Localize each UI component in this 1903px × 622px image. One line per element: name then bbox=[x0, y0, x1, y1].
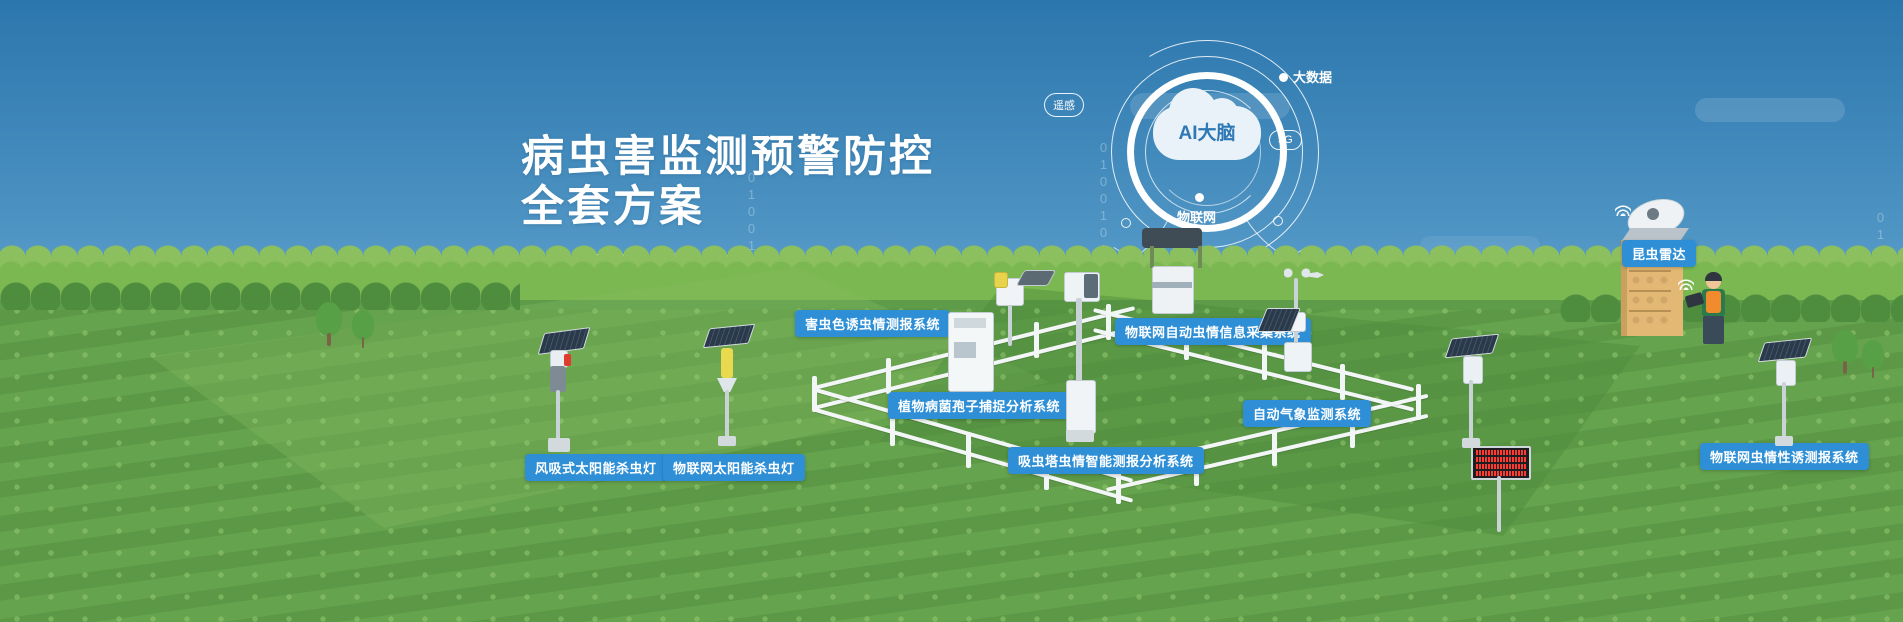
ai-node-iot[interactable]: 物联网 bbox=[1177, 207, 1216, 226]
farmer-legs bbox=[1703, 316, 1724, 344]
color-trap-solar bbox=[1016, 270, 1057, 286]
device-iot-pheromone-visual[interactable] bbox=[1445, 336, 1499, 456]
ai-node-remote-sensing[interactable]: 遥感 bbox=[1044, 93, 1084, 117]
farmer-wifi-icon bbox=[1678, 276, 1694, 290]
label-suction-tower[interactable]: 吸虫塔虫情智能测报分析系统 bbox=[1008, 447, 1204, 474]
pheromone-right-base bbox=[1775, 436, 1793, 446]
iot-lamp-solar-panel bbox=[703, 324, 756, 348]
wind-lamp-redmark bbox=[564, 354, 571, 366]
radar-dish-receiver bbox=[1647, 208, 1659, 220]
ai-node-dot-bigdata bbox=[1279, 73, 1288, 82]
device-suction-tower[interactable] bbox=[1058, 272, 1104, 452]
farmer-figure bbox=[1694, 274, 1734, 346]
device-wind-solar-lamp[interactable] bbox=[534, 330, 590, 450]
led-board-pole bbox=[1497, 476, 1501, 532]
suction-tower-cabinet bbox=[1066, 380, 1096, 434]
iot-lamp-base bbox=[718, 436, 736, 446]
cloud-decor-2 bbox=[1695, 98, 1845, 122]
suction-tower-base bbox=[1066, 430, 1094, 442]
fence-post-9 bbox=[1416, 384, 1421, 420]
page-title-line2: 全套方案 bbox=[521, 182, 935, 232]
label-spore-capture[interactable]: 植物病菌孢子捕捉分析系统 bbox=[888, 392, 1070, 419]
iot-lamp-pole bbox=[725, 390, 729, 440]
infographic-banner: 0100101101110 01001011 0101011101010010 … bbox=[0, 0, 1903, 622]
farmer-hair bbox=[1705, 272, 1722, 281]
tree-2 bbox=[352, 310, 374, 348]
ai-brain-label: AI大脑 bbox=[1153, 118, 1261, 145]
fence-post-15 bbox=[1272, 430, 1277, 466]
weather-cabinet bbox=[1284, 342, 1312, 372]
wind-lamp-pole bbox=[556, 390, 560, 444]
ai-node-endpoint-left bbox=[1121, 218, 1131, 228]
led-line-3 bbox=[1476, 464, 1526, 469]
bush-row-left bbox=[0, 280, 520, 310]
pheromone-solar-panel bbox=[1445, 334, 1500, 359]
fence-post-1 bbox=[812, 376, 817, 412]
label-radar-tower[interactable]: 昆虫雷达 bbox=[1622, 240, 1696, 267]
anemometer-cups bbox=[1284, 268, 1310, 278]
suction-tower-dark bbox=[1084, 274, 1098, 298]
label-iot-solar-lamp[interactable]: 物联网太阳能杀虫灯 bbox=[663, 454, 805, 481]
iot-lamp-tube bbox=[721, 348, 733, 378]
field-fence bbox=[806, 256, 1426, 466]
fence-post-2 bbox=[886, 358, 891, 394]
collector-canopy bbox=[1142, 228, 1202, 248]
device-spore-capture[interactable] bbox=[948, 312, 998, 400]
fence-post-11 bbox=[966, 432, 971, 468]
farmer-vest bbox=[1706, 291, 1721, 313]
tree-1 bbox=[316, 302, 342, 346]
led-line-2 bbox=[1476, 457, 1526, 462]
radar-tower[interactable] bbox=[1609, 200, 1699, 340]
pheromone-pole bbox=[1469, 380, 1473, 442]
led-line-4 bbox=[1476, 471, 1526, 476]
collector-stripe bbox=[1152, 282, 1192, 288]
fence-post-8 bbox=[1340, 364, 1345, 400]
tree-3 bbox=[1832, 330, 1858, 374]
device-color-trap[interactable] bbox=[990, 270, 1052, 350]
device-iot-solar-lamp[interactable] bbox=[705, 326, 755, 448]
ai-brain-diagram: AI大脑 遥感 大数据 5G 物联网 bbox=[1055, 30, 1375, 250]
device-iot-pheromone-right[interactable] bbox=[1758, 340, 1812, 450]
collector-body bbox=[1152, 266, 1194, 314]
pheromone-trap-body bbox=[1463, 356, 1483, 384]
ai-node-endpoint-right bbox=[1273, 216, 1283, 226]
device-iot-insect-collector[interactable] bbox=[1138, 228, 1210, 316]
wind-lamp-fan bbox=[550, 366, 566, 392]
pheromone-base bbox=[1462, 438, 1480, 448]
device-weather-station[interactable] bbox=[1262, 268, 1332, 378]
label-color-trap[interactable]: 害虫色诱虫情测报系统 bbox=[795, 310, 950, 337]
pheromone-right-body bbox=[1776, 360, 1796, 386]
ai-node-big-data[interactable]: 大数据 bbox=[1293, 67, 1332, 86]
label-wind-solar-lamp[interactable]: 风吸式太阳能杀虫灯 bbox=[525, 454, 667, 481]
pheromone-right-solar-panel bbox=[1758, 338, 1813, 363]
page-title-line1: 病虫害监测预警防控 bbox=[521, 132, 935, 182]
spore-screen bbox=[954, 342, 976, 358]
radar-wifi-icon bbox=[1615, 202, 1631, 216]
label-weather-station[interactable]: 自动气象监测系统 bbox=[1243, 400, 1371, 427]
ai-node-5g[interactable]: 5G bbox=[1269, 130, 1302, 150]
ai-node-dot-iot bbox=[1195, 193, 1204, 202]
fence-post-5 bbox=[1106, 304, 1111, 340]
spore-vent bbox=[954, 318, 986, 328]
tree-4 bbox=[1862, 340, 1884, 378]
pheromone-right-pole bbox=[1782, 382, 1786, 440]
color-trap-yellowcard bbox=[994, 272, 1008, 288]
collector-legs bbox=[1150, 246, 1202, 268]
wind-lamp-base bbox=[548, 438, 570, 452]
